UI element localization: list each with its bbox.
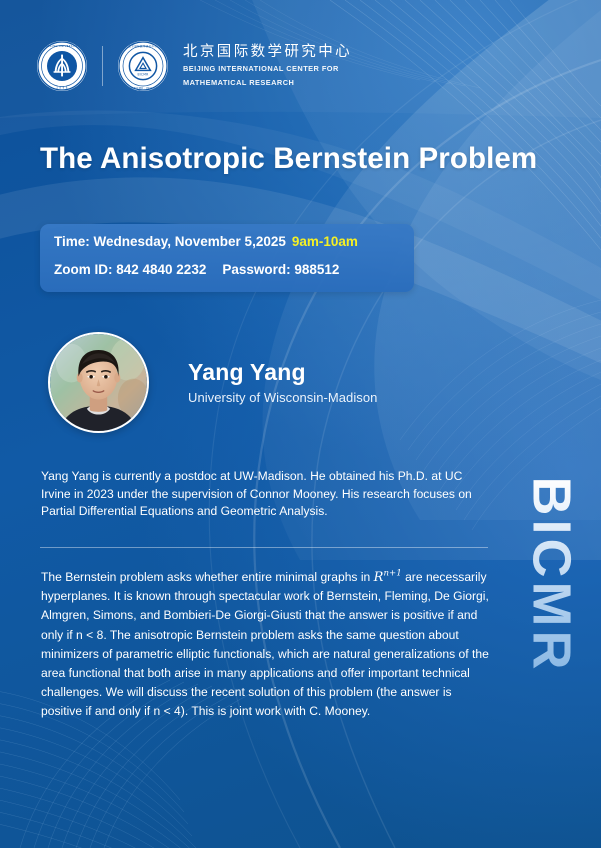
zoom-id[interactable]: Zoom ID: 842 4840 2232 [54,262,206,277]
math-base: R [374,570,384,585]
org-name-en-line2: MATHEMATICAL RESEARCH [183,78,352,89]
page-title: The Anisotropic Bernstein Problem [40,142,560,176]
svg-text:北京国际数学研究中心: 北京国际数学研究中心 [129,44,158,48]
svg-text:BICMR: BICMR [137,73,149,77]
bicmr-seal-icon: BICMR 北京国际数学研究中心 BICMR · PKU [117,40,169,92]
bicmr-watermark: BICMR [520,548,582,806]
abstract-text: The Bernstein problem asks whether entir… [41,568,493,722]
org-name-en-line1: BEIJING INTERNATIONAL CENTER FOR [183,64,352,75]
math-exponent: n+1 [383,569,401,579]
event-time-label: Time: Wednesday, November 5,2025 [54,234,286,249]
pku-seal-icon: PEKING UNIVERSITY 1 8 9 8 [36,40,88,92]
event-zoom-line: Zoom ID: 842 4840 2232Password: 988512 [40,263,414,277]
abstract-part2: are necessarily hyperplanes. It is known… [41,570,489,718]
logo-divider [102,46,103,86]
organization-name: 北京国际数学研究中心 BEIJING INTERNATIONAL CENTER … [183,43,352,89]
section-divider [40,547,488,548]
svg-text:BICMR · PKU: BICMR · PKU [134,87,152,90]
poster-header: PEKING UNIVERSITY 1 8 9 8 BICMR 北京国际数学研究… [36,40,352,92]
avatar [48,332,149,433]
zoom-password[interactable]: Password: 988512 [222,262,339,277]
speaker-affiliation: University of Wisconsin-Madison [188,390,377,405]
speaker-bio: Yang Yang is currently a postdoc at UW-M… [41,468,493,521]
seminar-poster: PEKING UNIVERSITY 1 8 9 8 BICMR 北京国际数学研究… [0,0,601,848]
svg-text:PEKING UNIVERSITY: PEKING UNIVERSITY [46,44,78,48]
event-time-highlight: 9am-10am [292,234,358,249]
event-time-line: Time: Wednesday, November 5,20259am-10am [40,235,414,249]
math-expression: Rn+1 [374,570,402,585]
org-name-cn: 北京国际数学研究中心 [183,43,352,61]
bicmr-watermark-text: BICMR [524,477,578,674]
svg-text:1 8 9 8: 1 8 9 8 [56,86,68,90]
abstract-part1: The Bernstein problem asks whether entir… [41,570,370,584]
speaker-name: Yang Yang [188,359,306,386]
event-info-box: Time: Wednesday, November 5,20259am-10am… [40,224,414,292]
